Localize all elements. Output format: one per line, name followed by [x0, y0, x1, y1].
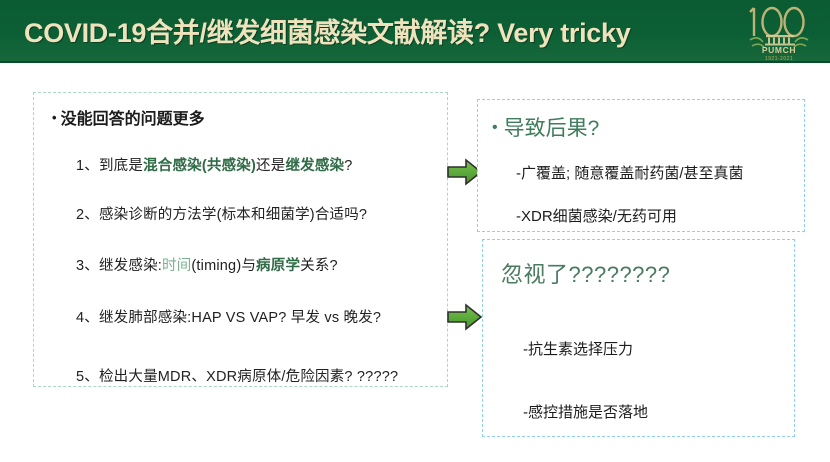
left-panel-heading: •没能回答的问题更多 — [52, 105, 205, 129]
q1-seg-2: 还是 — [256, 158, 285, 174]
bullet-icon: • — [492, 119, 498, 136]
consequences-panel: •导致后果? -广覆盖; 随意覆盖耐药菌/甚至真菌 -XDR细菌感染/无药可用 — [477, 99, 805, 232]
unanswered-questions-panel: •没能回答的问题更多 1、到底是混合感染(共感染)还是继发感染? 2、感染诊断的… — [33, 92, 448, 387]
overlooked-heading: 忽视了???????? — [501, 257, 670, 289]
q3-seg-0: 3、继发感染: — [76, 258, 162, 274]
q2-seg-0: 2、感染诊断的方法学(标本和细菌学)合适吗? — [76, 207, 367, 223]
overlooked-line-1: -抗生素选择压力 — [523, 338, 633, 359]
consequence-line-1: -广覆盖; 随意覆盖耐药菌/甚至真菌 — [516, 162, 744, 183]
overlooked-panel: 忽视了???????? -抗生素选择压力 -感控措施是否落地 — [482, 239, 795, 437]
q1-seg-4: ? — [344, 158, 352, 174]
consequences-heading-text: 导致后果? — [504, 117, 600, 140]
q4-seg-0: 4、继发肺部感染:HAP VS VAP? 早发 vs 晚发? — [76, 310, 381, 326]
q1-seg-0: 1、到底是 — [76, 158, 143, 174]
consequence-line-2: -XDR细菌感染/无药可用 — [516, 205, 677, 226]
slide-title: COVID-19合并/继发细菌感染文献解读? Very tricky — [24, 11, 630, 50]
consequences-heading: •导致后果? — [492, 112, 599, 142]
left-panel-heading-text: 没能回答的问题更多 — [61, 111, 205, 128]
q3-seg-4: 关系? — [300, 258, 338, 274]
q3-seg-2: (timing)与 — [191, 258, 256, 274]
svg-text:1921-2021: 1921-2021 — [765, 56, 793, 62]
bullet-icon: • — [52, 110, 57, 125]
pumch-centenary-logo: PUMCH 1921-2021 — [742, 2, 816, 62]
q3-seg-3: 病原学 — [256, 258, 300, 274]
q5-seg-0: 5、检出大量MDR、XDR病原体/危险因素? ????? — [76, 369, 398, 385]
question-item-1: 1、到底是混合感染(共感染)还是继发感染? — [76, 154, 353, 175]
svg-text:PUMCH: PUMCH — [762, 45, 796, 55]
overlooked-line-2: -感控措施是否落地 — [523, 401, 648, 422]
q3-seg-1: 时间 — [162, 258, 191, 274]
q1-seg-3: 继发感染 — [285, 158, 344, 174]
question-item-2: 2、感染诊断的方法学(标本和细菌学)合适吗? — [76, 203, 367, 224]
slide-header-bar: COVID-19合并/继发细菌感染文献解读? Very tricky — [0, 0, 830, 63]
arrow-to-overlooked-icon — [446, 302, 484, 332]
question-item-3: 3、继发感染:时间(timing)与病原学关系? — [76, 254, 338, 275]
q1-seg-1: 混合感染(共感染) — [143, 158, 256, 174]
question-item-5: 5、检出大量MDR、XDR病原体/危险因素? ????? — [76, 365, 398, 386]
question-item-4: 4、继发肺部感染:HAP VS VAP? 早发 vs 晚发? — [76, 306, 381, 327]
